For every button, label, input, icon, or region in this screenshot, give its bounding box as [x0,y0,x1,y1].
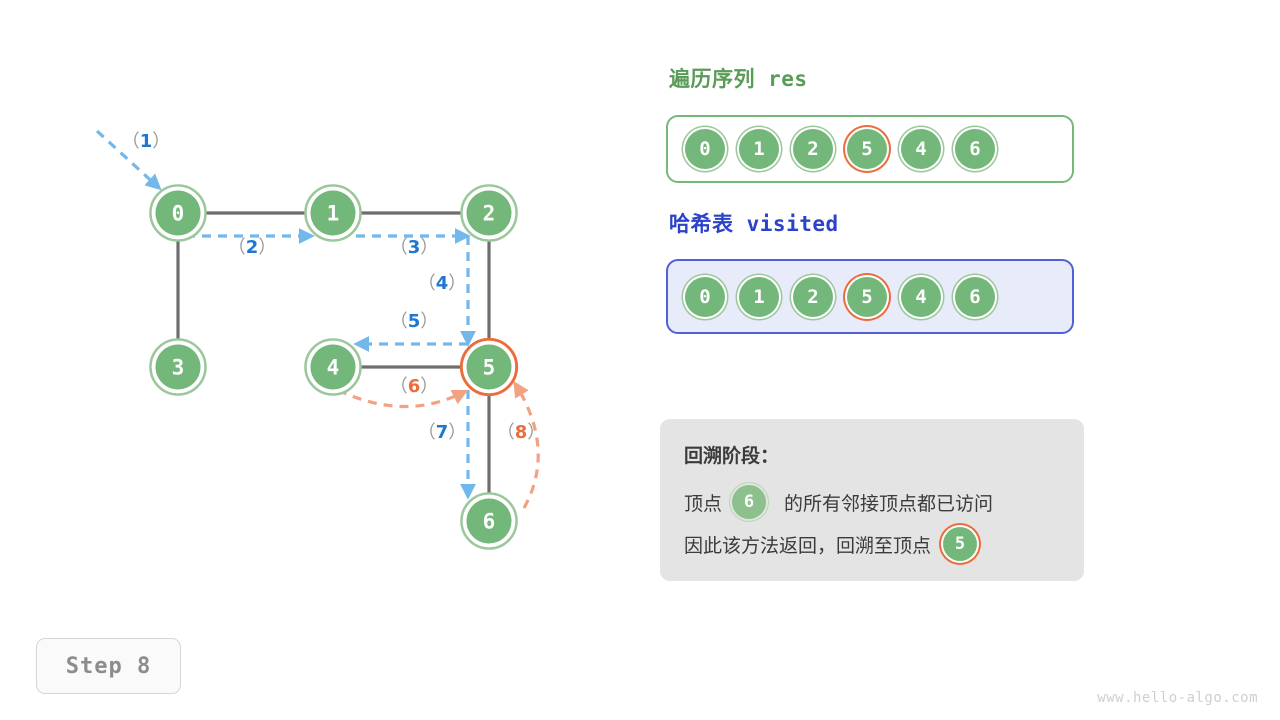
visited-title: 哈希表 visited [669,208,839,238]
res-array-box: 012546 [666,115,1074,183]
step-label-3: （3） [390,237,439,258]
step-label-1: （1） [122,131,171,152]
backtrack-arrow-8 [516,385,538,508]
node-label: 0 [172,202,185,226]
visited-item-3[interactable]: 5 [847,277,887,317]
res-title: 遍历序列 res [669,63,808,93]
explanation-line-2-prefix: 因此该方法返回，回溯至顶点 [684,531,931,558]
visited-item-4[interactable]: 4 [901,277,941,317]
graph-node-5[interactable]: 5 [462,340,517,395]
explanation-line-1-prefix: 顶点 [684,489,722,516]
res-item-0[interactable]: 0 [685,129,725,169]
node-label: 3 [172,356,185,380]
res-item-1[interactable]: 1 [739,129,779,169]
step-label-2: （2） [228,237,277,258]
explanation-card: 回溯阶段： 顶点 6 的所有邻接顶点都已访问 因此该方法返回，回溯至顶点 5 [660,419,1084,581]
graph-node-0[interactable]: 0 [151,186,206,241]
graph-nodes: 0123456 [151,186,517,549]
graph-node-4[interactable]: 4 [306,340,361,395]
node-label: 6 [483,510,496,534]
res-item-4[interactable]: 4 [901,129,941,169]
visited-item-2[interactable]: 2 [793,277,833,317]
watermark: www.hello-algo.com [1097,690,1258,706]
res-item-5[interactable]: 6 [955,129,995,169]
step-label-4: （4） [418,273,467,294]
step-label-5: （5） [390,311,439,332]
step-label-8: （8） [497,422,546,443]
node-label: 1 [327,202,340,226]
explanation-line-2: 因此该方法返回，回溯至顶点 5 [684,523,1060,565]
inline-node-6: 6 [732,485,766,519]
explanation-line-1: 顶点 6 的所有邻接顶点都已访问 [684,481,1060,523]
res-item-2[interactable]: 2 [793,129,833,169]
graph-node-6[interactable]: 6 [462,494,517,549]
visited-item-1[interactable]: 1 [739,277,779,317]
node-label: 4 [327,356,340,380]
visited-array-box: 012546 [666,259,1074,334]
graph-diagram: （1）（2）（3）（4）（5）（6）（7）（8） 0123456 [0,0,640,640]
step-badge: Step 8 [36,638,181,694]
node-label: 2 [483,202,496,226]
step-label-6: （6） [390,376,439,397]
visited-item-5[interactable]: 6 [955,277,995,317]
graph-node-2[interactable]: 2 [462,186,517,241]
node-label: 5 [483,356,496,380]
backtrack-arrows [338,385,538,508]
step-labels: （1）（2）（3）（4）（5）（6）（7）（8） [122,131,546,443]
graph-node-3[interactable]: 3 [151,340,206,395]
res-item-3[interactable]: 5 [847,129,887,169]
graph-node-1[interactable]: 1 [306,186,361,241]
explanation-heading: 回溯阶段： [684,441,1060,468]
step-label-7: （7） [418,422,467,443]
explanation-line-1-suffix: 的所有邻接顶点都已访问 [784,489,993,516]
visited-item-0[interactable]: 0 [685,277,725,317]
inline-node-5: 5 [943,527,977,561]
